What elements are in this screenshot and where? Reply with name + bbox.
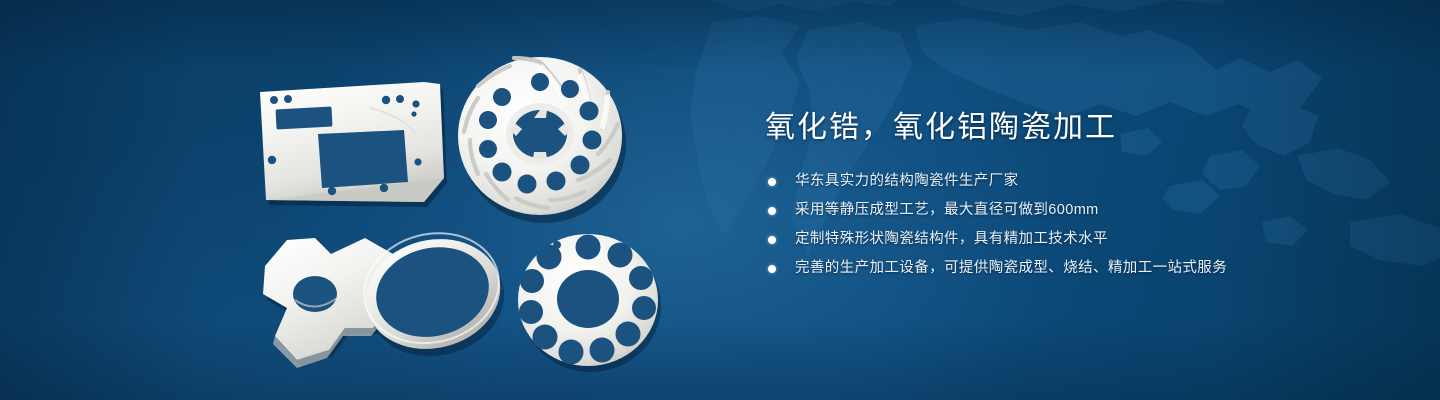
bullet-dot-icon: [768, 236, 776, 244]
bullet-dot-icon: [768, 178, 776, 186]
list-item-label: 定制特殊形状陶瓷结构件，具有精加工技术水平: [795, 231, 1108, 247]
page-title: 氧化锆，氧化铝陶瓷加工: [765, 108, 1365, 148]
list-item-label: 采用等静压成型工艺，最大直径可做到600mm: [795, 202, 1099, 218]
list-item: 完善的生产加工设备，可提供陶瓷成型、烧结、精加工一站式服务: [765, 256, 1365, 281]
bullet-dot-icon: [768, 265, 776, 273]
hero-banner: 氧化锆，氧化铝陶瓷加工 华东具实力的结构陶瓷件生产厂家 采用等静压成型工艺，最大…: [0, 0, 1440, 400]
list-item: 定制特殊形状陶瓷结构件，具有精加工技术水平: [765, 227, 1365, 252]
product-photo-collage: [0, 0, 720, 400]
bullet-dot-icon: [768, 207, 776, 215]
ceramic-ring: [355, 228, 515, 363]
ceramic-perforated-disc: [513, 228, 667, 376]
ceramic-mounting-plate: [252, 78, 452, 213]
list-item: 采用等静压成型工艺，最大直径可做到600mm: [765, 198, 1365, 223]
ceramic-impeller-disc: [452, 48, 630, 224]
banner-copy: 氧化锆，氧化铝陶瓷加工 华东具实力的结构陶瓷件生产厂家 采用等静压成型工艺，最大…: [765, 108, 1365, 285]
list-item-label: 完善的生产加工设备，可提供陶瓷成型、烧结、精加工一站式服务: [795, 260, 1227, 276]
list-item: 华东具实力的结构陶瓷件生产厂家: [765, 169, 1365, 194]
feature-list: 华东具实力的结构陶瓷件生产厂家 采用等静压成型工艺，最大直径可做到600mm 定…: [765, 169, 1365, 281]
list-item-label: 华东具实力的结构陶瓷件生产厂家: [795, 173, 1019, 189]
